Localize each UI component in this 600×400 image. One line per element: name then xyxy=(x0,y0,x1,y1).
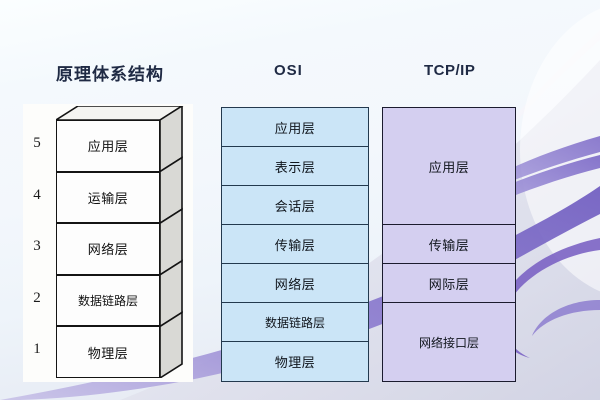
osi-layer-physical-label: 物理层 xyxy=(275,352,316,371)
osi-layer-application: 应用层 xyxy=(221,107,369,148)
principle-layer-4-label: 运输层 xyxy=(88,188,129,207)
tcpip-layer-transport: 传输层 xyxy=(382,224,516,265)
osi-layer-presentation-label: 表示层 xyxy=(275,157,316,176)
tcpip-heading: TCP/IP xyxy=(424,62,475,79)
osi-layer-network-label: 网络层 xyxy=(275,274,316,293)
layer-number-2: 2 xyxy=(26,273,48,325)
osi-layer-session: 会话层 xyxy=(221,185,369,226)
tcpip-layer-application: 应用层 xyxy=(382,107,516,225)
layer-number-3: 3 xyxy=(26,221,48,273)
layer-number-4: 4 xyxy=(26,170,48,222)
tcpip-layer-network-interface: 网络接口层 xyxy=(382,302,516,382)
osi-layer-network: 网络层 xyxy=(221,263,369,304)
layer-number-column: 5 4 3 2 1 xyxy=(26,118,48,376)
slide-canvas: 原理体系结构 OSI TCP/IP 5 4 3 2 1 应用层 运输层 网络层 xyxy=(0,0,600,400)
osi-heading: OSI xyxy=(274,62,303,79)
osi-layer-datalink: 数据链路层 xyxy=(221,302,369,343)
tcpip-layer-network-interface-label: 网络接口层 xyxy=(419,334,479,351)
tcpip-layer-internet-label: 网际层 xyxy=(429,274,470,293)
principle-layer-2-label: 数据链路层 xyxy=(78,292,138,309)
osi-layer-datalink-label: 数据链路层 xyxy=(265,314,325,331)
principle-layer-3-label: 网络层 xyxy=(88,239,129,258)
principle-layer-4: 运输层 xyxy=(56,172,160,224)
principle-layer-5-label: 应用层 xyxy=(88,136,129,155)
tcpip-layer-transport-label: 传输层 xyxy=(429,235,470,254)
layer-number-1: 1 xyxy=(26,324,48,376)
tcpip-layer-application-label: 应用层 xyxy=(429,157,470,176)
principle-layer-2: 数据链路层 xyxy=(56,275,160,327)
osi-layer-transport-label: 传输层 xyxy=(275,235,316,254)
principle-layer-1: 物理层 xyxy=(56,326,160,378)
layer-number-5: 5 xyxy=(26,118,48,170)
osi-layer-application-label: 应用层 xyxy=(275,118,316,137)
osi-layer-session-label: 会话层 xyxy=(275,196,316,215)
tcpip-layer-internet: 网际层 xyxy=(382,263,516,304)
osi-layer-physical: 物理层 xyxy=(221,341,369,382)
principle-layer-1-label: 物理层 xyxy=(88,343,129,362)
principle-heading: 原理体系结构 xyxy=(56,60,164,85)
osi-column: 应用层 表示层 会话层 传输层 网络层 数据链路层 物理层 xyxy=(221,107,369,382)
principle-3d-stack: 应用层 运输层 网络层 数据链路层 物理层 xyxy=(56,106,186,378)
osi-layer-presentation: 表示层 xyxy=(221,146,369,187)
tcpip-column: 应用层 传输层 网际层 网络接口层 xyxy=(382,107,516,382)
principle-layer-5: 应用层 xyxy=(56,120,160,172)
osi-layer-transport: 传输层 xyxy=(221,224,369,265)
principle-layer-3: 网络层 xyxy=(56,223,160,275)
